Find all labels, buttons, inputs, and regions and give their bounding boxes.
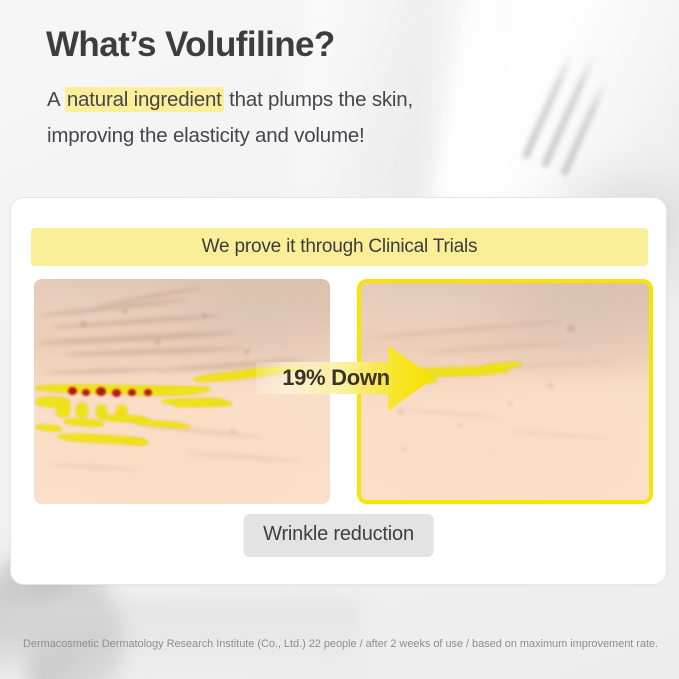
wrinkle-reduction-caption-label: Wrinkle reduction [263, 523, 414, 545]
before-image [34, 279, 330, 504]
bottle-neck-shape [492, 0, 609, 2]
before-skin-photo [34, 279, 330, 504]
page-subtitle: A natural ingredient that plumps the ski… [47, 82, 413, 154]
subtitle-highlight: natural ingredient [65, 87, 224, 112]
before-after-image-row [22, 279, 657, 504]
clinical-trial-banner-label: We prove it through Clinical Trials [202, 236, 478, 258]
bottle-label-text-blur [522, 36, 651, 190]
clinical-trial-card: We prove it through Clinical Trials [10, 197, 667, 585]
after-image [357, 279, 653, 504]
footnote: Dermacosmetic Dermatology Research Insti… [23, 638, 658, 650]
after-skin-photo [361, 283, 649, 500]
page-title: What’s Volufiline? [46, 26, 335, 65]
wrinkle-reduction-caption: Wrinkle reduction [243, 514, 434, 557]
clinical-trial-banner: We prove it through Clinical Trials [31, 228, 648, 266]
subtitle-text-before: A [47, 88, 65, 111]
promo-infographic: What’s Volufiline? A natural ingredient … [0, 0, 679, 679]
bottle-cap-line [500, 0, 515, 30]
